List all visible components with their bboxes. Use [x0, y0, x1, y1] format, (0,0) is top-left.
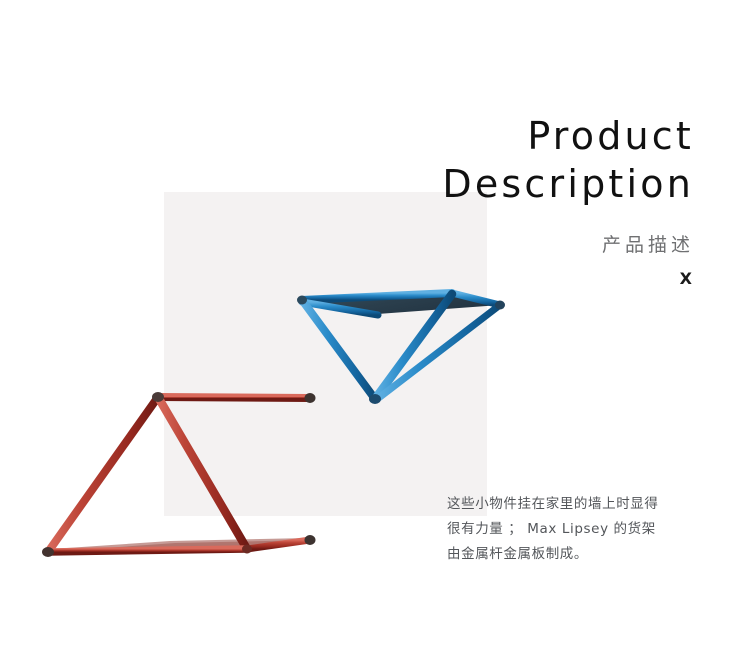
- blue-joint-wall-left: [297, 296, 307, 305]
- page-title-line-1: Product: [294, 112, 694, 160]
- blue-joint-wall-right: [495, 301, 505, 310]
- red-joint-wall-top: [305, 393, 316, 403]
- page-title-line-2: Description: [294, 160, 694, 208]
- product-description-page: Product Description 产品描述 X 这些小物件挂在家里的墙上时…: [0, 0, 750, 652]
- red-rod-right-diagonal: [158, 397, 247, 549]
- red-joint-floor-left: [42, 547, 54, 557]
- blue-shelf: [297, 292, 505, 404]
- description-line-2: 很有力量 ； Max Lipsey 的货架: [447, 517, 705, 542]
- red-joint-apex: [152, 392, 164, 402]
- red-rod-top-horizontal: [158, 397, 310, 398]
- header-text-block: Product Description 产品描述 X: [294, 112, 694, 288]
- red-rod-left-diagonal: [48, 397, 158, 552]
- product-description-copy: 这些小物件挂在家里的墙上时显得 很有力量 ； Max Lipsey 的货架 由金…: [447, 492, 705, 567]
- red-shelf: [42, 392, 316, 557]
- page-subtitle-chinese: 产品描述: [294, 232, 694, 258]
- page-subtitle-mark: X: [294, 270, 692, 288]
- red-joint-wall-bottom: [305, 535, 316, 545]
- description-line-3: 由金属杆金属板制成。: [447, 542, 705, 567]
- red-rod-floor-front: [48, 549, 247, 552]
- red-joint-floor-mid: [242, 545, 252, 554]
- description-line-1: 这些小物件挂在家里的墙上时显得: [447, 492, 705, 517]
- blue-joint-bottom: [369, 394, 381, 404]
